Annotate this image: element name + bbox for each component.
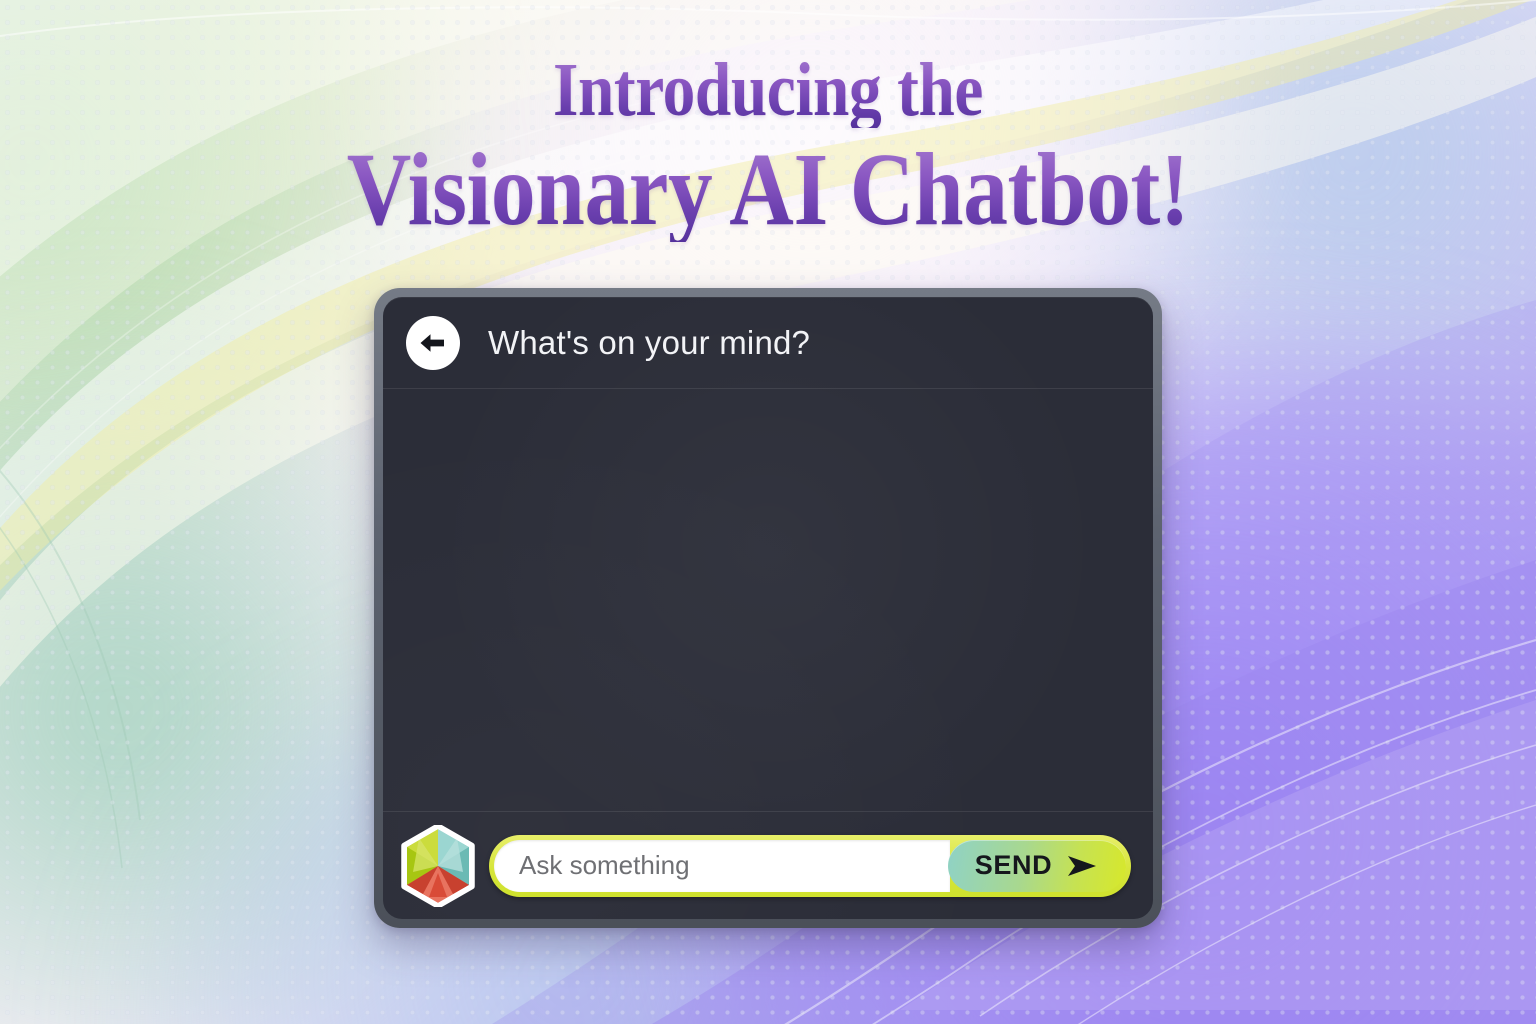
- send-arrow-icon: [1065, 852, 1099, 880]
- arrow-left-icon: [416, 326, 450, 360]
- hexagon-gem-logo-icon: [401, 825, 475, 907]
- poster-stage: Introducing the Visionary AI Chatbot! Wh…: [0, 0, 1536, 1024]
- message-input[interactable]: Ask something: [494, 840, 950, 892]
- chat-window-inner: What's on your mind?: [383, 297, 1153, 919]
- message-input-pill: Ask something SEND: [489, 835, 1131, 897]
- send-button-label: SEND: [975, 850, 1052, 881]
- page-title: Introducing the Visionary AI Chatbot!: [0, 52, 1536, 242]
- headline-line-1: Introducing the: [108, 52, 1429, 128]
- send-button[interactable]: SEND: [948, 840, 1126, 892]
- headline-line-2: Visionary AI Chatbot!: [108, 138, 1429, 242]
- back-button[interactable]: [406, 316, 460, 370]
- composer-bar: Ask something SEND: [383, 811, 1153, 919]
- chat-window: What's on your mind?: [374, 288, 1162, 928]
- chat-header: What's on your mind?: [383, 297, 1153, 389]
- message-input-placeholder: Ask something: [519, 850, 690, 881]
- message-list[interactable]: [383, 389, 1153, 811]
- chat-header-title: What's on your mind?: [488, 324, 810, 362]
